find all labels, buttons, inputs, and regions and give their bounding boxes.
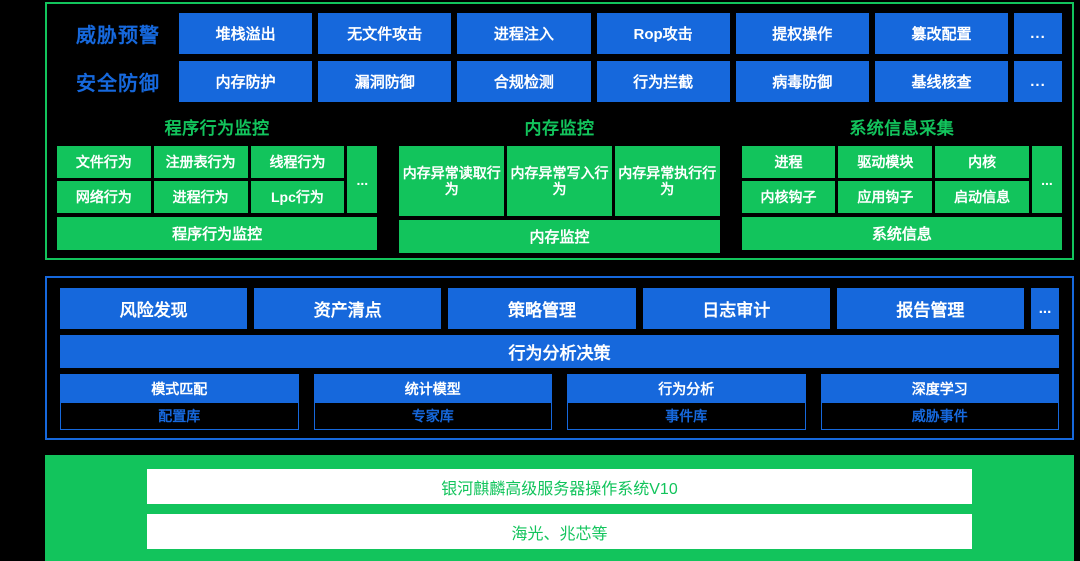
chip-fileless-attack[interactable]: 无文件攻击 xyxy=(318,13,451,54)
pillar-system-info-footer: 系统信息 xyxy=(742,217,1062,250)
pillar-program-behavior-line-1: 文件行为 注册表行为 线程行为 xyxy=(57,146,344,178)
security-defense-row: 安全防御 内存防护 漏洞防御 合规检测 行为拦截 病毒防御 基线核查 ... xyxy=(57,61,1062,102)
pillar-memory-monitoring-cells: 内存异常读取行为 内存异常写入行为 内存异常执行行为 xyxy=(399,146,719,216)
module-log-audit[interactable]: 日志审计 xyxy=(643,288,830,329)
pillar-system-info: 系统信息采集 进程 驱动模块 内核 内核钩子 应用钩子 启动信息 xyxy=(742,114,1062,253)
base-layer-panel: 银河麒麟高级服务器操作系统V10 海光、兆芯等 xyxy=(45,455,1074,561)
engine-statistical-model[interactable]: 统计模型 专家库 xyxy=(314,374,553,430)
chip-compliance-check[interactable]: 合规检测 xyxy=(457,61,590,102)
behavior-analysis-decision-bar: 行为分析决策 xyxy=(60,335,1059,368)
module-asset-inventory[interactable]: 资产清点 xyxy=(254,288,441,329)
chip-behavior-blocking[interactable]: 行为拦截 xyxy=(597,61,730,102)
engine-behavior-analysis-title: 行为分析 xyxy=(568,375,805,403)
chip-defense-more[interactable]: ... xyxy=(1014,61,1062,102)
pillar-program-behavior-grid: 文件行为 注册表行为 线程行为 网络行为 进程行为 Lpc行为 ... xyxy=(57,146,377,213)
pillar-program-behavior-cells: 文件行为 注册表行为 线程行为 网络行为 进程行为 Lpc行为 xyxy=(57,146,344,213)
pillar-memory-monitoring-title: 内存监控 xyxy=(399,114,719,139)
pillar-memory-monitoring-line-1: 内存异常读取行为 内存异常写入行为 内存异常执行行为 xyxy=(399,146,719,216)
chip-process-injection[interactable]: 进程注入 xyxy=(457,13,590,54)
module-policy-management[interactable]: 策略管理 xyxy=(448,288,635,329)
chip-vulnerability-defense[interactable]: 漏洞防御 xyxy=(318,61,451,102)
chip-config-tampering[interactable]: 篡改配置 xyxy=(875,13,1008,54)
threat-warning-chips: 堆栈溢出 无文件攻击 进程注入 Rop攻击 提权操作 篡改配置 ... xyxy=(179,13,1062,54)
security-defense-chips: 内存防护 漏洞防御 合规检测 行为拦截 病毒防御 基线核查 ... xyxy=(179,61,1062,102)
cell-network-behavior[interactable]: 网络行为 xyxy=(57,181,151,213)
pillar-memory-monitoring-grid: 内存异常读取行为 内存异常写入行为 内存异常执行行为 xyxy=(399,146,719,216)
architecture-diagram: 威胁预警 堆栈溢出 无文件攻击 进程注入 Rop攻击 提权操作 篡改配置 ...… xyxy=(0,0,1080,561)
cell-application-hook[interactable]: 应用钩子 xyxy=(838,181,932,213)
cell-startup-info[interactable]: 启动信息 xyxy=(935,181,1029,213)
cell-registry-behavior[interactable]: 注册表行为 xyxy=(154,146,248,178)
pillar-program-behavior-footer: 程序行为监控 xyxy=(57,217,377,250)
threat-warning-label: 威胁预警 xyxy=(57,13,179,54)
pillar-system-info-line-1: 进程 驱动模块 内核 xyxy=(742,146,1029,178)
engine-behavior-analysis[interactable]: 行为分析 事件库 xyxy=(567,374,806,430)
chip-stack-overflow[interactable]: 堆栈溢出 xyxy=(179,13,312,54)
cell-lpc-behavior[interactable]: Lpc行为 xyxy=(251,181,345,213)
cell-thread-behavior[interactable]: 线程行为 xyxy=(251,146,345,178)
engine-pattern-matching-store: 配置库 xyxy=(61,403,298,429)
platform-layer-panel: 风险发现 资产清点 策略管理 日志审计 报告管理 ... 行为分析决策 模式匹配… xyxy=(45,276,1074,440)
platform-modules-row: 风险发现 资产清点 策略管理 日志审计 报告管理 ... xyxy=(60,288,1059,329)
security-defense-label: 安全防御 xyxy=(57,61,179,102)
cell-memory-abnormal-read[interactable]: 内存异常读取行为 xyxy=(399,146,504,216)
pillar-memory-monitoring: 内存监控 内存异常读取行为 内存异常写入行为 内存异常执行行为 内存监控 xyxy=(399,114,719,253)
module-report-management[interactable]: 报告管理 xyxy=(837,288,1024,329)
pillar-program-behavior: 程序行为监控 文件行为 注册表行为 线程行为 网络行为 进程行为 Lpc行为 xyxy=(57,114,377,253)
engine-behavior-analysis-store: 事件库 xyxy=(568,403,805,429)
cell-file-behavior[interactable]: 文件行为 xyxy=(57,146,151,178)
cell-kernel-hook[interactable]: 内核钩子 xyxy=(742,181,836,213)
chip-memory-protection[interactable]: 内存防护 xyxy=(179,61,312,102)
monitoring-pillars: 程序行为监控 文件行为 注册表行为 线程行为 网络行为 进程行为 Lpc行为 xyxy=(57,114,1062,253)
engine-deep-learning-title: 深度学习 xyxy=(822,375,1059,403)
engine-deep-learning-store: 威胁事件 xyxy=(822,403,1059,429)
engine-statistical-model-store: 专家库 xyxy=(315,403,552,429)
chip-privilege-escalation[interactable]: 提权操作 xyxy=(736,13,869,54)
cell-kernel[interactable]: 内核 xyxy=(935,146,1029,178)
analysis-engines-row: 模式匹配 配置库 统计模型 专家库 行为分析 事件库 深度学习 威胁事件 xyxy=(60,374,1059,430)
engine-deep-learning[interactable]: 深度学习 威胁事件 xyxy=(821,374,1060,430)
cell-memory-abnormal-execute[interactable]: 内存异常执行行为 xyxy=(615,146,720,216)
pillar-memory-monitoring-footer: 内存监控 xyxy=(399,220,719,253)
module-more[interactable]: ... xyxy=(1031,288,1059,329)
module-risk-discovery[interactable]: 风险发现 xyxy=(60,288,247,329)
cell-system-info-more[interactable]: ... xyxy=(1032,146,1062,213)
pillar-system-info-title: 系统信息采集 xyxy=(742,114,1062,139)
engine-pattern-matching[interactable]: 模式匹配 配置库 xyxy=(60,374,299,430)
chip-rop-attack[interactable]: Rop攻击 xyxy=(597,13,730,54)
base-card-operating-system[interactable]: 银河麒麟高级服务器操作系统V10 xyxy=(147,469,972,504)
threat-warning-row: 威胁预警 堆栈溢出 无文件攻击 进程注入 Rop攻击 提权操作 篡改配置 ... xyxy=(57,13,1062,54)
cell-program-behavior-more[interactable]: ... xyxy=(347,146,377,213)
cell-memory-abnormal-write[interactable]: 内存异常写入行为 xyxy=(507,146,612,216)
cell-process[interactable]: 进程 xyxy=(742,146,836,178)
pillar-program-behavior-line-2: 网络行为 进程行为 Lpc行为 xyxy=(57,181,344,213)
endpoint-layer-panel: 威胁预警 堆栈溢出 无文件攻击 进程注入 Rop攻击 提权操作 篡改配置 ...… xyxy=(45,2,1074,260)
pillar-system-info-line-2: 内核钩子 应用钩子 启动信息 xyxy=(742,181,1029,213)
pillar-system-info-grid: 进程 驱动模块 内核 内核钩子 应用钩子 启动信息 ... xyxy=(742,146,1062,213)
chip-baseline-audit[interactable]: 基线核查 xyxy=(875,61,1008,102)
pillar-system-info-cells: 进程 驱动模块 内核 内核钩子 应用钩子 启动信息 xyxy=(742,146,1029,213)
chip-threat-more[interactable]: ... xyxy=(1014,13,1062,54)
engine-pattern-matching-title: 模式匹配 xyxy=(61,375,298,403)
cell-driver-module[interactable]: 驱动模块 xyxy=(838,146,932,178)
chip-virus-defense[interactable]: 病毒防御 xyxy=(736,61,869,102)
pillar-program-behavior-title: 程序行为监控 xyxy=(57,114,377,139)
engine-statistical-model-title: 统计模型 xyxy=(315,375,552,403)
base-card-hardware[interactable]: 海光、兆芯等 xyxy=(147,514,972,549)
cell-process-behavior[interactable]: 进程行为 xyxy=(154,181,248,213)
